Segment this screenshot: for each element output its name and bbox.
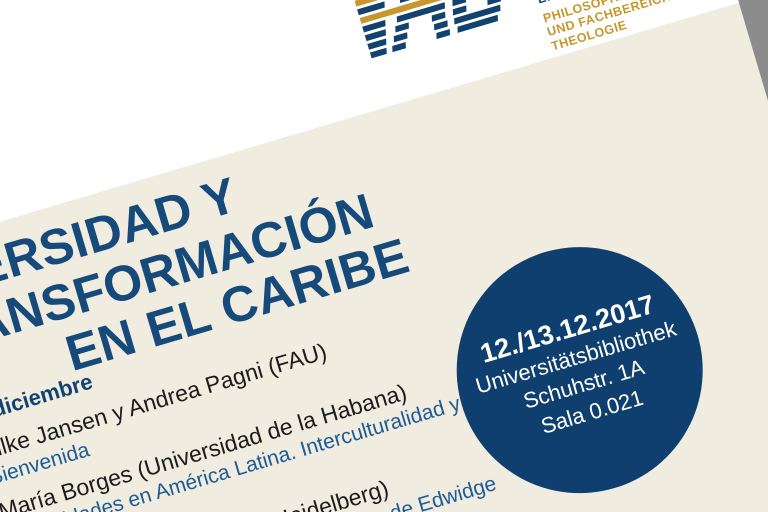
fau-logo-icon (346, 0, 541, 86)
poster-sheet: FRIEDRICH-ALEXANDER UNIVERSITÄT ERLANGEN… (0, 0, 768, 512)
poster-canvas: FRIEDRICH-ALEXANDER UNIVERSITÄT ERLANGEN… (0, 0, 768, 512)
